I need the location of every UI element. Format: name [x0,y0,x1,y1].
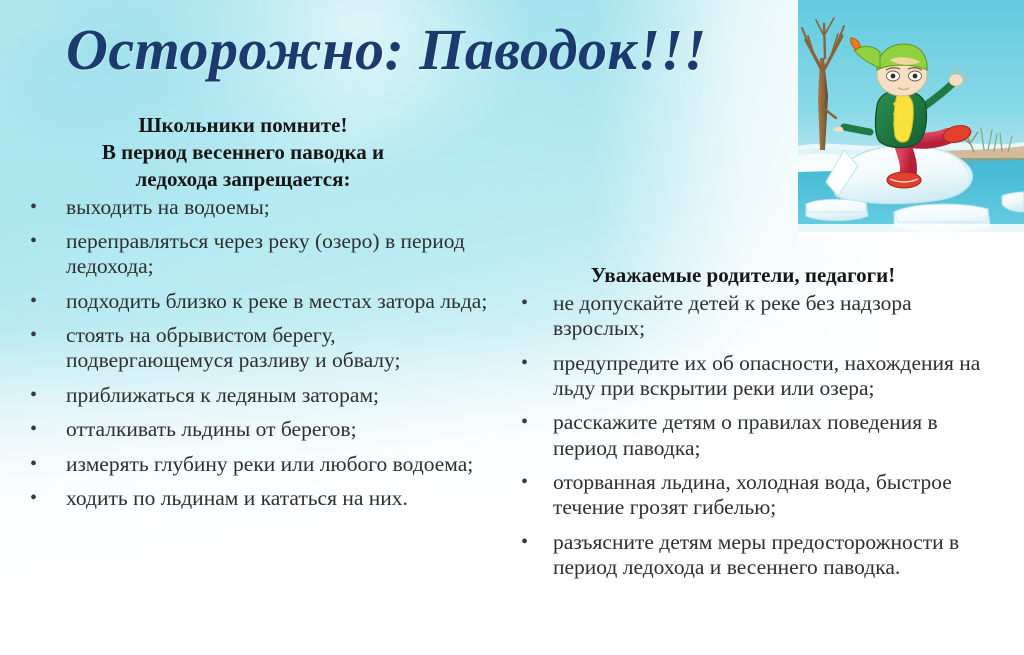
list-item: • не допускайте детей к реке без надзора… [505,291,995,342]
list-item-text: расскажите детям о правилах поведения в … [553,410,995,461]
bullet-icon: • [30,384,37,408]
list-item-text: переправляться через реку (озеро) в пери… [66,229,500,280]
list-item-text: измерять глубину реки или любого водоема… [66,452,500,477]
schoolchildren-heading: Школьники помните! В период весеннего па… [0,112,500,193]
bullet-icon: • [30,230,37,254]
parents-teachers-heading: Уважаемые родители, педагоги! [505,262,995,289]
bullet-icon: • [521,471,528,495]
schoolchildren-prohibition-list: • выходить на водоемы; • переправляться … [0,195,500,512]
bullet-icon: • [30,453,37,477]
list-item-text: выходить на водоемы; [66,195,500,220]
list-item: • отталкивать льдины от берегов; [0,417,500,442]
bullet-icon: • [521,531,528,555]
schoolchildren-heading-line-2: В период весеннего паводка и [30,139,456,166]
list-item-text: оторванная льдина, холодная вода, быстро… [553,470,995,521]
list-item: • подходить близко к реке в местах затор… [0,289,500,314]
list-item-text: разъясните детям меры предосторожности в… [553,530,995,581]
bullet-icon: • [521,352,528,376]
list-item: • оторванная льдина, холодная вода, быст… [505,470,995,521]
list-item: • разъясните детям меры предосторожности… [505,530,995,581]
bullet-icon: • [30,487,37,511]
flood-safety-poster: Осторожно: Паводок!!! Школьники помните!… [0,0,1024,655]
list-item-text: не допускайте детей к реке без надзора в… [553,291,995,342]
schoolchildren-section: Школьники помните! В период весеннего па… [0,112,500,520]
poster-title: Осторожно: Паводок!!! [66,20,707,81]
list-item: • приближаться к ледяным заторам; [0,383,500,408]
schoolchildren-heading-line-3: ледохода запрещается: [30,166,456,193]
bullet-icon: • [30,290,37,314]
list-item-text: подходить близко к реке в местах затора … [66,289,500,314]
list-item: • предупредите их об опасности, нахожден… [505,351,995,402]
bullet-icon: • [521,411,528,435]
list-item-text: приближаться к ледяным заторам; [66,383,500,408]
list-item: • измерять глубину реки или любого водое… [0,452,500,477]
bullet-icon: • [30,418,37,442]
bullet-icon: • [521,292,528,316]
parents-teachers-section: Уважаемые родители, педагоги! • не допус… [505,262,995,589]
list-item-text: стоять на обрывистом берегу, подвергающе… [66,323,500,374]
list-item-text: предупредите их об опасности, нахождения… [553,351,995,402]
parents-teachers-advice-list: • не допускайте детей к реке без надзора… [505,291,995,581]
schoolchildren-heading-line-1: Школьники помните! [30,112,456,139]
list-item: • ходить по льдинам и кататься на них. [0,486,500,511]
bullet-icon: • [30,196,37,220]
list-item: • выходить на водоемы; [0,195,500,220]
list-item: • переправляться через реку (озеро) в пе… [0,229,500,280]
list-item-text: ходить по льдинам и кататься на них. [66,486,500,511]
bullet-icon: • [30,324,37,348]
child-on-ice-floe-illustration [798,0,1024,238]
list-item: • стоять на обрывистом берегу, подвергаю… [0,323,500,374]
list-item: • расскажите детям о правилах поведения … [505,410,995,461]
list-item-text: отталкивать льдины от берегов; [66,417,500,442]
